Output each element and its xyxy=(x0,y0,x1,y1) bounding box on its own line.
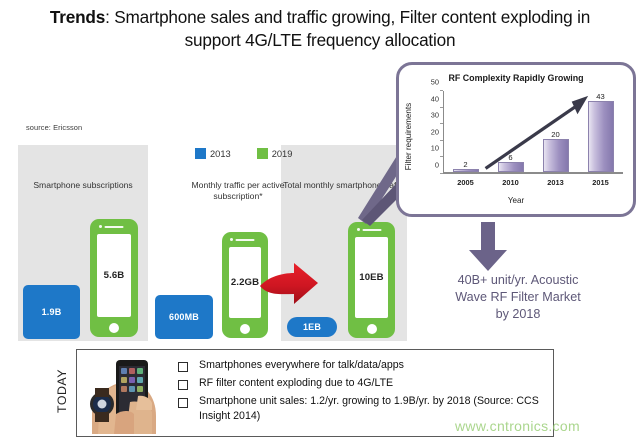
chart-y-tick: 20 xyxy=(431,127,439,136)
chart-x-tick: 2005 xyxy=(457,178,473,187)
chart-y-tickmark xyxy=(440,140,443,141)
phone-speaker-icon xyxy=(105,226,124,229)
chart-x-axis xyxy=(443,172,623,174)
market-line-1: 40B+ unit/yr. Acoustic xyxy=(408,272,628,289)
legend-label-2019: 2019 xyxy=(272,149,293,159)
phone-screen: 10EB xyxy=(355,237,388,318)
chart-y-tick: 10 xyxy=(431,144,439,153)
market-line-2: Wave RF Filter Market xyxy=(408,289,628,306)
page-title: Trends: Smartphone sales and traffic gro… xyxy=(30,6,610,52)
column-title-subscriptions: Smartphone subscriptions xyxy=(18,180,148,191)
page-title-emphasis: Trends xyxy=(50,7,105,27)
chart-y-tick: 40 xyxy=(431,94,439,103)
legend-swatch-2019-icon xyxy=(257,148,268,159)
checkbox-icon[interactable] xyxy=(178,362,188,372)
page-title-rest: : Smartphone sales and traffic growing, … xyxy=(105,7,590,50)
red-growth-arrow-icon xyxy=(258,258,320,310)
chart-y-tickmark xyxy=(440,123,443,124)
chart-y-tick: 0 xyxy=(435,161,439,170)
slide-canvas: Trends: Smartphone sales and traffic gro… xyxy=(0,0,640,445)
chart-y-tick: 30 xyxy=(431,111,439,120)
market-line-3: by 2018 xyxy=(408,306,628,323)
site-watermark: www.cntronics.com xyxy=(455,418,580,434)
chart-y-tickmark xyxy=(440,156,443,157)
today-bullet-list: Smartphones everywhere for talk/data/app… xyxy=(178,358,548,427)
phone-graphic-total-traffic: 10EB xyxy=(348,222,395,338)
phone-screen: 5.6B xyxy=(97,234,131,317)
value-2019-subscriptions: 5.6B xyxy=(104,270,125,281)
chart-y-axis-label: Filter requirements xyxy=(403,91,415,181)
chart-x-tick: 2013 xyxy=(547,178,563,187)
chart-y-axis xyxy=(443,91,444,174)
bullet-text: Smartphones everywhere for talk/data/app… xyxy=(199,358,404,373)
legend-swatch-2013-icon xyxy=(195,148,206,159)
chart-bar xyxy=(588,101,614,172)
legend-item-2013: 2013 xyxy=(195,148,231,159)
down-arrow-icon xyxy=(466,222,510,272)
bullet-item: Smartphones everywhere for talk/data/app… xyxy=(178,358,548,373)
chart-x-tick: 2015 xyxy=(592,178,608,187)
phone-camera-icon xyxy=(99,225,102,228)
chart-bar-value: 43 xyxy=(596,92,604,101)
value-2019-monthly-traffic: 2.2GB xyxy=(231,277,259,288)
chart-y-tickmark xyxy=(440,90,443,91)
legend-label-2013: 2013 xyxy=(210,149,231,159)
phone-home-button-icon xyxy=(240,324,250,334)
value-2019-total-traffic: 10EB xyxy=(359,272,383,283)
chart-y-tickmark xyxy=(440,107,443,108)
hand-holding-phone-photo xyxy=(86,352,170,434)
phone-home-button-icon xyxy=(109,323,119,333)
value-box-2013-monthly-traffic: 600MB xyxy=(155,295,213,339)
chart-bar xyxy=(453,169,479,172)
phone-speaker-icon xyxy=(236,239,255,242)
chart-bar xyxy=(498,162,524,172)
bullet-item: RF filter content exploding due to 4G/LT… xyxy=(178,376,548,391)
bullet-text: RF filter content exploding due to 4G/LT… xyxy=(199,376,393,391)
chart-bars-container: 010203040502200562010202013432015 xyxy=(443,91,623,174)
checkbox-icon[interactable] xyxy=(178,398,188,408)
chart-y-tick: 50 xyxy=(431,78,439,87)
legend-item-2019: 2019 xyxy=(257,148,293,159)
legend: 2013 2019 xyxy=(195,148,292,159)
phone-camera-icon xyxy=(230,238,233,241)
chart-bar-value: 20 xyxy=(551,130,559,139)
chart-x-axis-label: Year xyxy=(399,196,633,205)
chart-bar-value: 2 xyxy=(463,160,467,169)
phone-screen: 2.2GB xyxy=(229,247,261,318)
chart-x-tick: 2010 xyxy=(502,178,518,187)
market-forecast-text: 40B+ unit/yr. Acoustic Wave RF Filter Ma… xyxy=(408,272,628,323)
phone-graphic-subscriptions: 5.6B xyxy=(90,219,138,337)
rf-complexity-chart-callout: RF Complexity Rapidly Growing Filter req… xyxy=(396,62,636,217)
chart-y-tickmark xyxy=(440,173,443,174)
value-box-2013-subscriptions: 1.9B xyxy=(23,285,80,339)
chart-plot-area: 010203040502200562010202013432015 xyxy=(443,91,623,174)
phone-home-button-icon xyxy=(367,324,377,334)
chart-bar-value: 6 xyxy=(508,153,512,162)
source-ericsson-label: source: Ericsson xyxy=(26,123,82,132)
value-box-2013-total-traffic: 1EB xyxy=(287,317,337,337)
checkbox-icon[interactable] xyxy=(178,380,188,390)
column-title-monthly-traffic: Monthly traffic per active subscription* xyxy=(178,180,298,202)
chart-bar xyxy=(543,139,569,172)
